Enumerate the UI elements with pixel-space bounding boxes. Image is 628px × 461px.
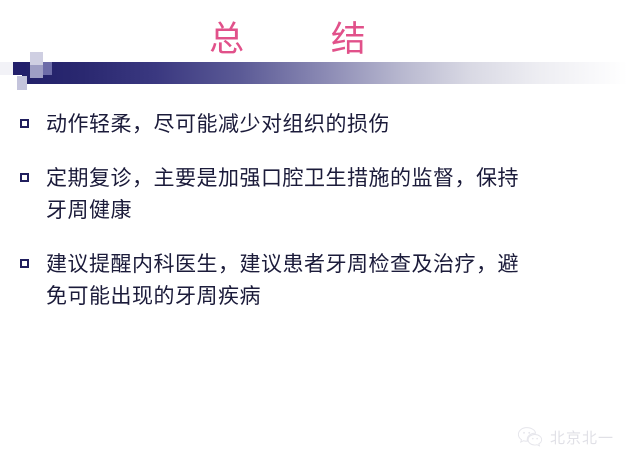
decorative-square-pale bbox=[0, 62, 13, 75]
list-item: 定期复诊，主要是加强口腔卫生措施的监督，保持 牙周健康 bbox=[18, 162, 618, 226]
list-item-text: 建议提醒内科医生，建议患者牙周检查及治疗，避 免可能出现的牙周疾病 bbox=[46, 248, 618, 312]
decorative-square-slate bbox=[43, 62, 52, 75]
title-area: 总 结 bbox=[0, 0, 628, 100]
square-bullet-icon bbox=[20, 259, 29, 268]
list-item: 动作轻柔，尽可能减少对组织的损伤 bbox=[18, 108, 618, 140]
decorative-square-navy bbox=[13, 62, 26, 75]
list-item-text: 定期复诊，主要是加强口腔卫生措施的监督，保持 牙周健康 bbox=[46, 162, 618, 226]
title-gradient-rule bbox=[22, 62, 628, 84]
wechat-icon bbox=[517, 425, 543, 449]
decorative-square-light bbox=[30, 52, 43, 65]
square-bullet-icon bbox=[20, 173, 29, 182]
decorative-square-mid bbox=[30, 65, 43, 78]
decorative-squares bbox=[0, 48, 52, 92]
decorative-square-lavender bbox=[17, 76, 27, 90]
page-title: 总 结 bbox=[0, 18, 628, 62]
bullet-list: 动作轻柔，尽可能减少对组织的损伤 定期复诊，主要是加强口腔卫生措施的监督，保持 … bbox=[18, 108, 618, 312]
list-item-text: 动作轻柔，尽可能减少对组织的损伤 bbox=[46, 108, 618, 140]
watermark: 北京北一 bbox=[517, 425, 614, 449]
list-item: 建议提醒内科医生，建议患者牙周检查及治疗，避 免可能出现的牙周疾病 bbox=[18, 248, 618, 312]
slide-canvas: 总 结 动作轻柔，尽可能减少对组织的损伤 定期复诊，主要是加强口腔卫生措施的监督… bbox=[0, 0, 628, 461]
square-bullet-icon bbox=[20, 119, 29, 128]
watermark-label: 北京北一 bbox=[550, 427, 614, 448]
